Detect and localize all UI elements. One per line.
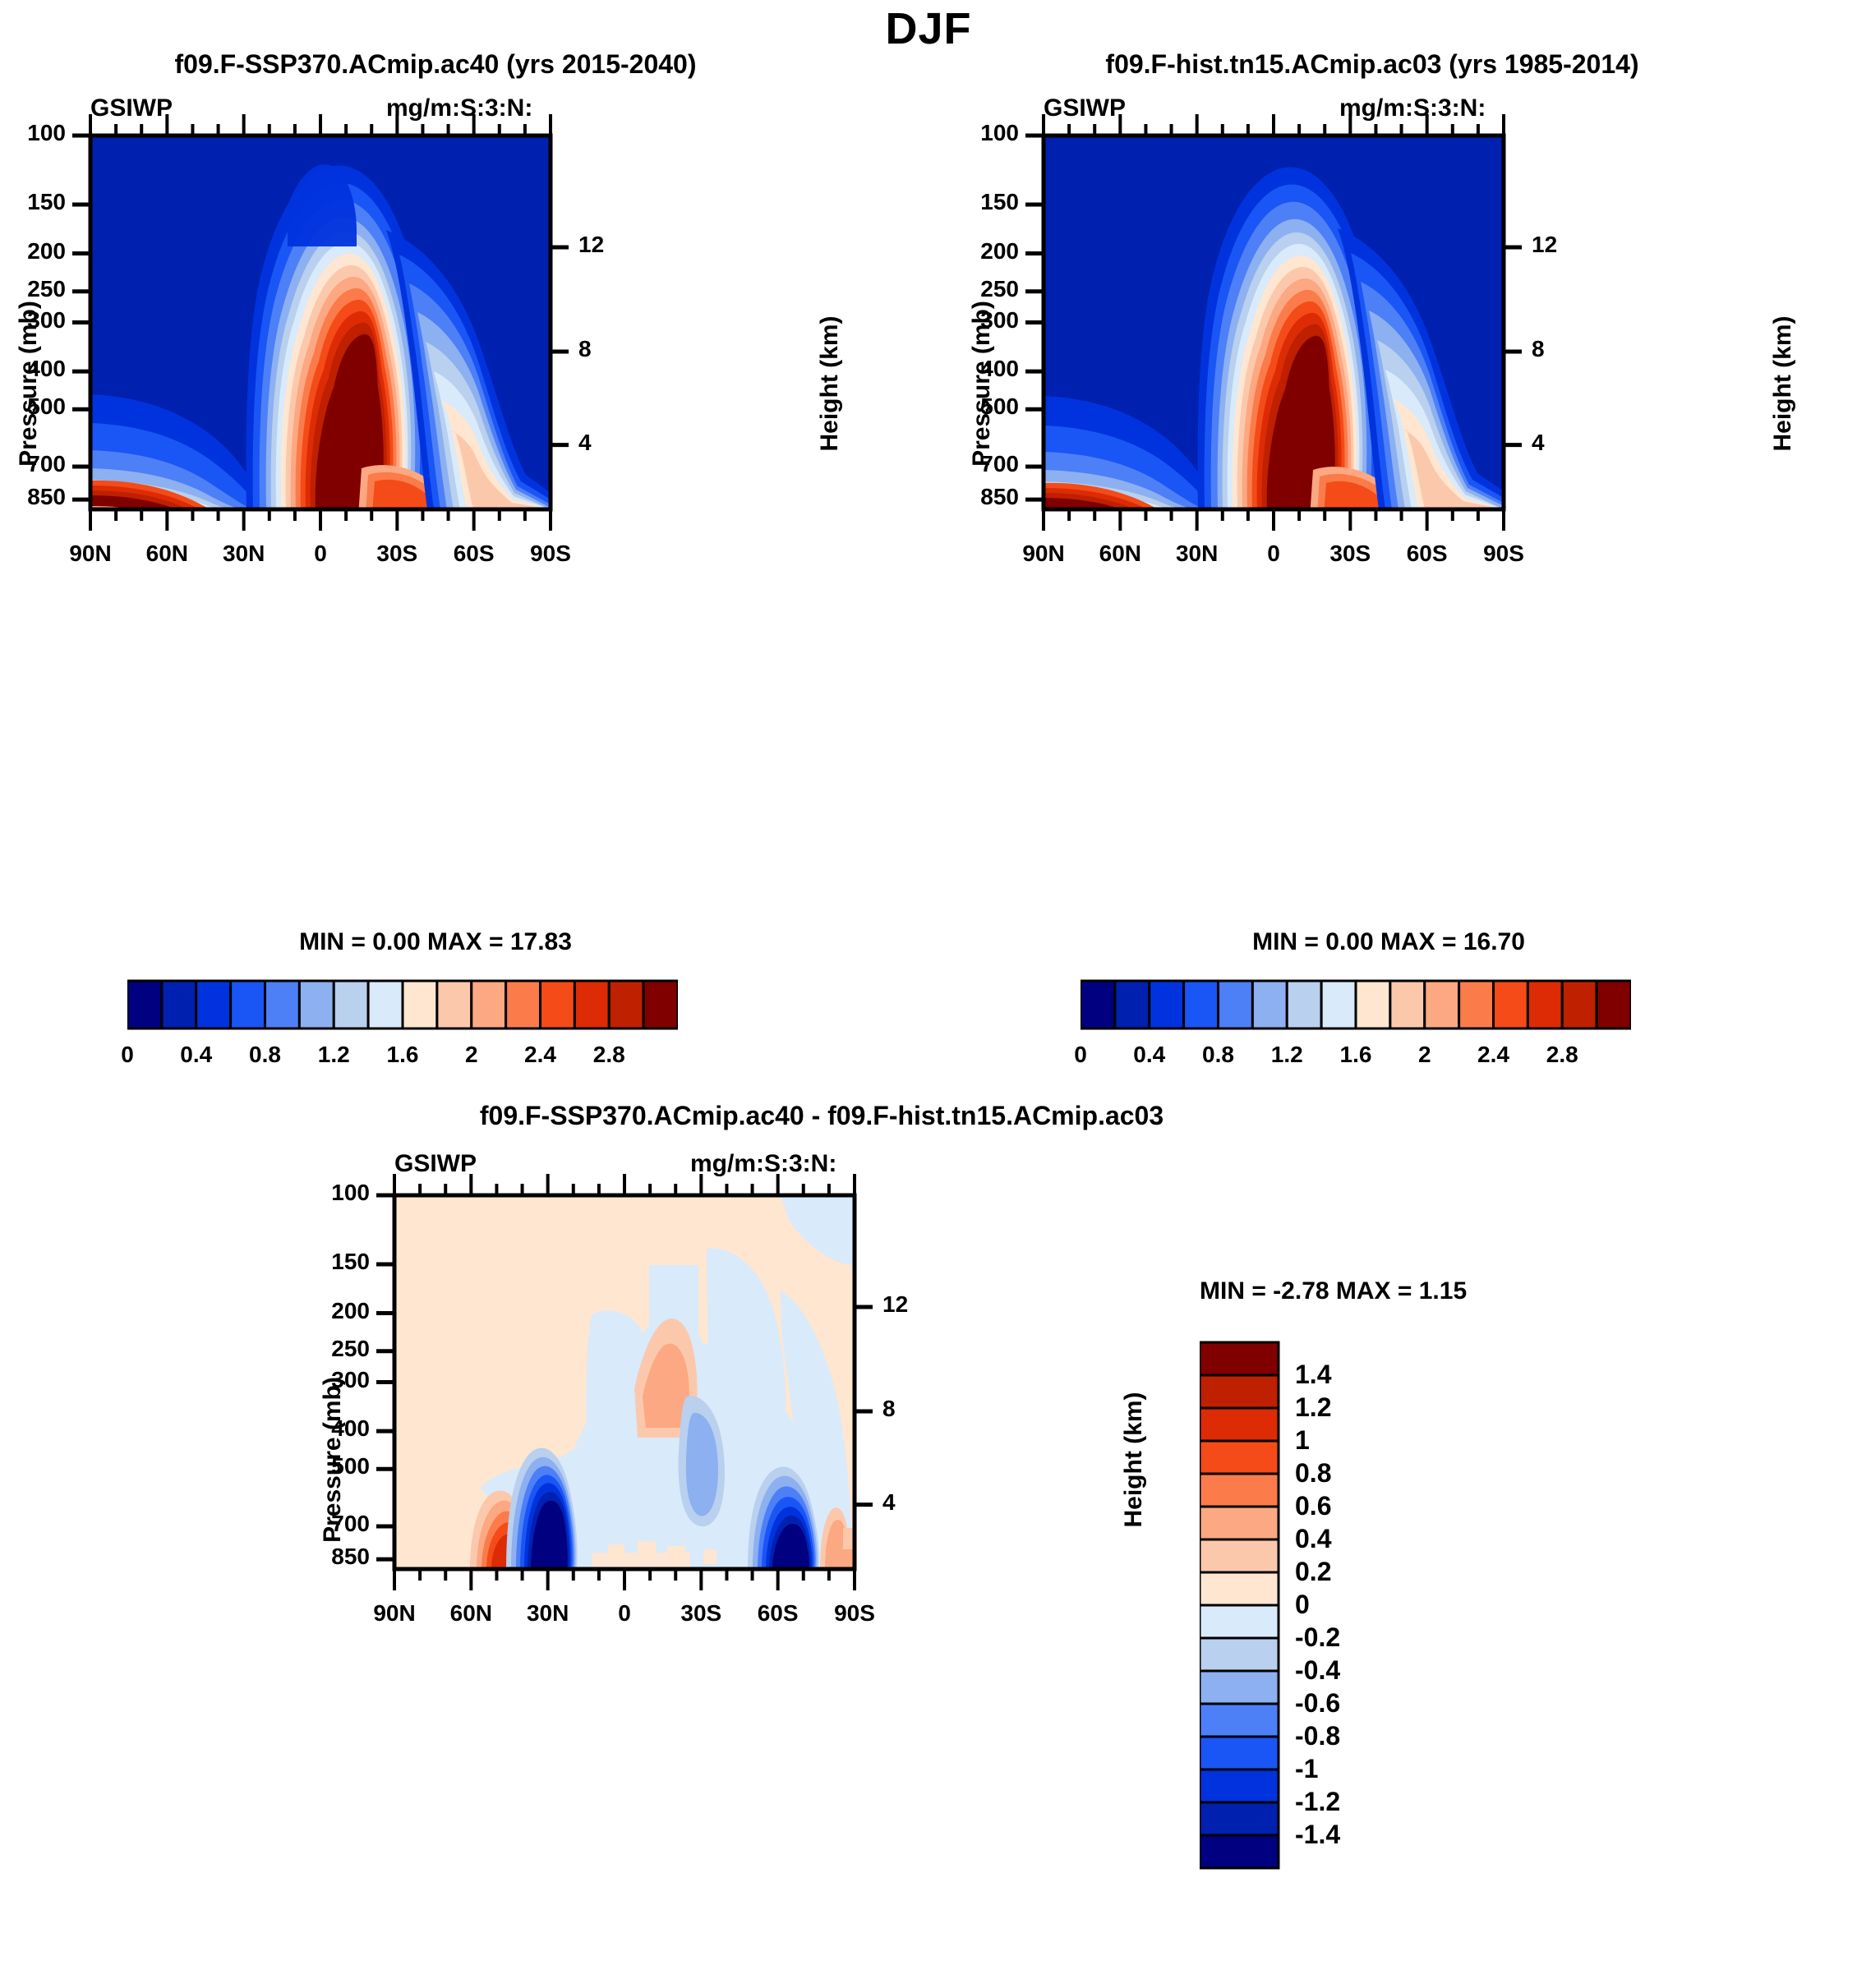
colorbar-bin <box>1200 1507 1279 1539</box>
colorbar-tick-label: 2.4 <box>504 1042 578 1068</box>
colorbar-tick-label: -1 <box>1295 1754 1318 1783</box>
colorbar-tick-label: 1.2 <box>1250 1042 1324 1068</box>
colorbar-bin <box>1200 1638 1279 1671</box>
pressure-tick-label: 700 <box>288 1511 370 1537</box>
colorbar-bin <box>1115 981 1150 1029</box>
colorbar-bin <box>1219 981 1253 1029</box>
pressure-tick-label: 850 <box>288 1544 370 1570</box>
panel-top-left-title: f09.F-SSP370.ACmip.ac40 (yrs 2015-2040) <box>0 49 871 80</box>
colorbar-tick-label: 1.2 <box>1295 1392 1331 1422</box>
colorbar-bin <box>1200 1342 1279 1375</box>
colorbar-bin <box>1494 981 1528 1029</box>
colorbar-bin <box>1356 981 1390 1029</box>
colorbar-bin <box>1200 1441 1279 1474</box>
colorbar-bin <box>196 981 231 1029</box>
height-tick-label: 8 <box>882 1396 896 1422</box>
colorbar-tick-label: -0.4 <box>1295 1655 1340 1685</box>
pressure-tick-label: 200 <box>937 238 1019 265</box>
pressure-tick-label: 150 <box>288 1249 370 1275</box>
colorbar-tick-label: 2 <box>435 1042 509 1068</box>
colorbar-bin <box>1390 981 1425 1029</box>
pressure-tick-label: 200 <box>0 238 66 265</box>
height-tick-label: 8 <box>1532 336 1545 362</box>
colorbar-tick-label: 0 <box>1295 1590 1310 1619</box>
panel-top-left-colorbar: 00.40.81.21.622.42.8 <box>127 978 678 1076</box>
colorbar-tick-label: 0.4 <box>1113 1042 1187 1068</box>
panel-top-left-yaxis <box>72 136 90 499</box>
colorbar-bin <box>1459 981 1494 1029</box>
colorbar-tick-label: 1.6 <box>366 1042 440 1068</box>
colorbar-bin <box>1200 1671 1279 1704</box>
colorbar-bin <box>1200 1704 1279 1737</box>
panel-top-left: f09.F-SSP370.ACmip.ac40 (yrs 2015-2040) … <box>0 49 871 1134</box>
panel-top-right-plot <box>953 82 1824 904</box>
colorbar-tick-label: 2.8 <box>572 1042 646 1068</box>
pressure-tick-label: 400 <box>0 356 66 382</box>
pressure-tick-label: 700 <box>0 451 66 477</box>
colorbar-bin <box>368 981 403 1029</box>
colorbar-tick-label: 0.2 <box>1295 1557 1331 1586</box>
colorbar-bin <box>609 981 643 1029</box>
colorbar-bin <box>1597 981 1631 1029</box>
pressure-tick-label: 150 <box>937 189 1019 215</box>
colorbar-bin <box>1200 1474 1279 1507</box>
pressure-tick-label: 300 <box>937 307 1019 334</box>
colorbar-swatches <box>127 978 678 1035</box>
colorbar-bin <box>1252 981 1287 1029</box>
panel-diff-title: f09.F-SSP370.ACmip.ac40 - f09.F-hist.tn1… <box>247 1101 1397 1131</box>
colorbar-bin <box>1200 1605 1279 1638</box>
height-tick-label: 12 <box>882 1291 908 1318</box>
pressure-tick-label: 500 <box>288 1453 370 1479</box>
colorbar-bin <box>127 981 162 1029</box>
colorbar-bin <box>1321 981 1356 1029</box>
colorbar-bin <box>472 981 506 1029</box>
colorbar-tick-label: 0.4 <box>159 1042 233 1068</box>
colorbar-bin <box>1200 1572 1279 1605</box>
pressure-tick-label: 500 <box>937 393 1019 420</box>
height-tick-label: 8 <box>578 336 592 362</box>
colorbar-tick-label: -0.2 <box>1295 1622 1340 1652</box>
pressure-tick-label: 250 <box>937 276 1019 302</box>
pressure-tick-label: 200 <box>288 1298 370 1324</box>
height-tick-label: 12 <box>578 232 604 258</box>
colorbar-bin <box>1200 1375 1279 1408</box>
pressure-tick-label: 250 <box>288 1336 370 1362</box>
height-tick-label: 4 <box>882 1489 896 1516</box>
colorbar-tick-label: 0.4 <box>1295 1524 1332 1553</box>
colorbar-bin <box>403 981 437 1029</box>
colorbar-tick-label: -1.2 <box>1295 1787 1340 1816</box>
colorbar-tick-label: -0.6 <box>1295 1688 1340 1718</box>
colorbar-bin <box>574 981 609 1029</box>
colorbar-bin <box>1528 981 1562 1029</box>
colorbar-tick-label: 0 <box>90 1042 164 1068</box>
colorbar-bin <box>1150 981 1184 1029</box>
colorbar-tick-label: 0.8 <box>228 1042 302 1068</box>
colorbar-tick-label: 1.4 <box>1295 1360 1332 1389</box>
colorbar-bin <box>541 981 575 1029</box>
panel-diff-colorbar: 1.41.210.80.60.40.20-0.2-0.4-0.6-0.8-1-1… <box>1200 1339 1446 1881</box>
colorbar-tick-label: 0.6 <box>1295 1491 1331 1521</box>
colorbar-bin <box>1200 1835 1279 1868</box>
latitude-tick-label: 90S <box>501 541 600 567</box>
pressure-tick-label: 500 <box>0 393 66 420</box>
colorbar-bin <box>1562 981 1597 1029</box>
colorbar-bin <box>1200 1539 1279 1572</box>
colorbar-tick-label: 2 <box>1388 1042 1462 1068</box>
colorbar-bin <box>1200 1737 1279 1769</box>
colorbar-bin <box>334 981 368 1029</box>
colorbar-bin <box>1287 981 1321 1029</box>
pressure-tick-label: 400 <box>937 356 1019 382</box>
panel-top-right-minmax: MIN = 0.00 MAX = 16.70 <box>953 928 1824 956</box>
colorbar-tick-label: -1.4 <box>1295 1820 1340 1849</box>
latitude-tick-label: 90S <box>805 1600 904 1627</box>
pressure-tick-label: 300 <box>288 1367 370 1393</box>
colorbar-bin <box>1200 1408 1279 1441</box>
colorbar-tick-label: 0.8 <box>1295 1458 1331 1488</box>
colorbar-tick-label: 0 <box>1044 1042 1117 1068</box>
colorbar-bin <box>265 981 300 1029</box>
colorbar-tick-label: 2.4 <box>1457 1042 1531 1068</box>
panel-top-left-plot <box>0 82 871 904</box>
colorbar-bin <box>1200 1802 1279 1835</box>
colorbar-tick-label: 0.8 <box>1182 1042 1256 1068</box>
figure-title: DJF <box>0 3 1857 54</box>
panel-top-left-minmax: MIN = 0.00 MAX = 17.83 <box>0 928 871 956</box>
colorbar-tick-label: 1.6 <box>1319 1042 1393 1068</box>
colorbar-tick-label: -0.8 <box>1295 1721 1340 1751</box>
pressure-tick-label: 100 <box>937 120 1019 146</box>
height-tick-label: 12 <box>1532 232 1557 258</box>
pressure-tick-label: 100 <box>288 1180 370 1206</box>
colorbar-bin <box>437 981 472 1029</box>
colorbar-tick-label: 1.2 <box>297 1042 371 1068</box>
pressure-tick-label: 850 <box>0 484 66 510</box>
height-tick-label: 4 <box>578 430 592 456</box>
colorbar-tick-label: 2.8 <box>1525 1042 1599 1068</box>
colorbar-bin <box>1200 1769 1279 1802</box>
panel-top-right: f09.F-hist.tn15.ACmip.ac03 (yrs 1985-201… <box>953 49 1824 1134</box>
colorbar-bin <box>1081 981 1115 1029</box>
colorbar-bin <box>1425 981 1459 1029</box>
pressure-tick-label: 250 <box>0 276 66 302</box>
pressure-tick-label: 400 <box>288 1415 370 1442</box>
colorbar-bin <box>299 981 334 1029</box>
panel-top-right-colorbar: 00.40.81.21.622.42.8 <box>1081 978 1631 1076</box>
colorbar-bin <box>231 981 265 1029</box>
colorbar-bin <box>1184 981 1219 1029</box>
panel-diff: f09.F-SSP370.ACmip.ac40 - f09.F-hist.tn1… <box>345 1101 1495 1988</box>
colorbar-tick-label: 1 <box>1295 1425 1310 1455</box>
panel-top-right-title: f09.F-hist.tn15.ACmip.ac03 (yrs 1985-201… <box>887 49 1857 80</box>
colorbar-bin <box>162 981 196 1029</box>
pressure-tick-label: 700 <box>937 451 1019 477</box>
colorbar-bin <box>643 981 678 1029</box>
latitude-tick-label: 90S <box>1454 541 1553 567</box>
pressure-tick-label: 100 <box>0 120 66 146</box>
height-tick-label: 4 <box>1532 430 1545 456</box>
pressure-tick-label: 850 <box>937 484 1019 510</box>
colorbar-bin <box>506 981 541 1029</box>
pressure-tick-label: 300 <box>0 307 66 334</box>
pressure-tick-label: 150 <box>0 189 66 215</box>
